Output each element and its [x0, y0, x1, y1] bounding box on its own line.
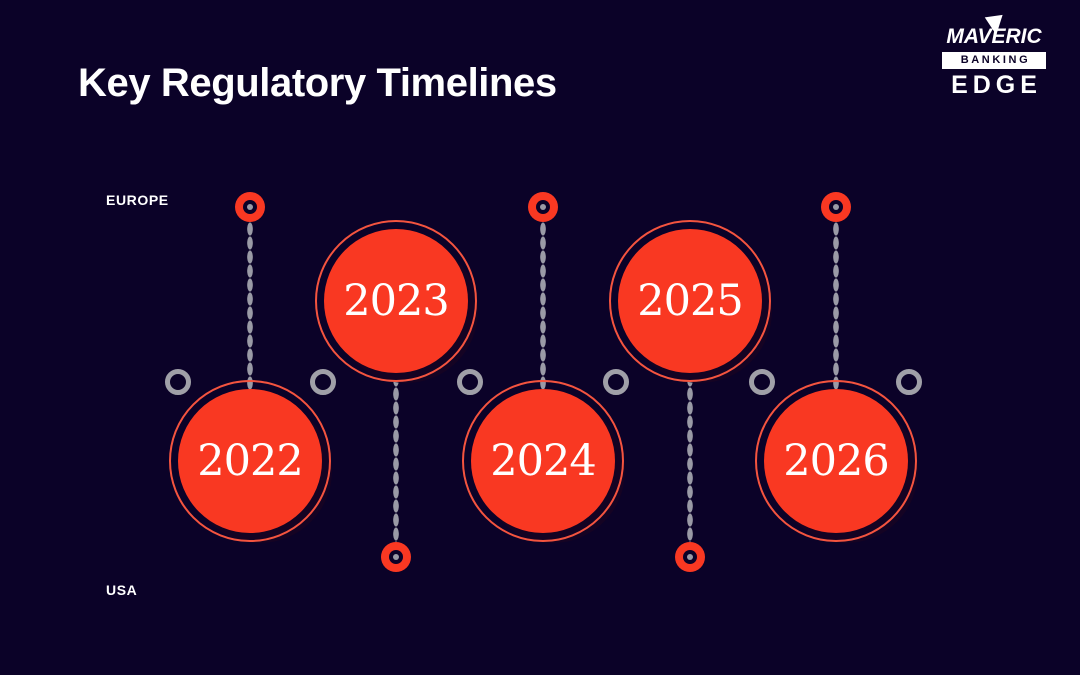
endpoint-marker-2026	[821, 192, 851, 222]
endpoint-center-dot	[687, 554, 693, 560]
endpoint-center-dot	[833, 204, 839, 210]
timeline-infographic: Key Regulatory Timelines MAVERIC BANKING…	[0, 0, 1080, 675]
region-label-europe: EUROPE	[106, 192, 169, 208]
endpoint-inner-ring	[829, 200, 843, 214]
endpoint-inner-ring	[243, 200, 257, 214]
logo-banking-text: BANKING	[942, 52, 1046, 69]
connector-2025	[687, 373, 693, 542]
page-title: Key Regulatory Timelines	[78, 61, 557, 105]
year-node-outline-ring	[169, 380, 331, 542]
endpoint-marker-2023	[381, 542, 411, 572]
year-node-2026[interactable]: 2026	[764, 389, 908, 533]
year-node-outline-ring	[462, 380, 624, 542]
connector-2023	[393, 373, 399, 542]
endpoint-center-dot	[247, 204, 253, 210]
endpoint-inner-ring	[536, 200, 550, 214]
endpoint-inner-ring	[389, 550, 403, 564]
year-node-2022[interactable]: 2022	[178, 389, 322, 533]
logo-edge-text: EDGE	[942, 72, 1046, 99]
year-node-outline-ring	[755, 380, 917, 542]
maveric-banking-edge-logo: MAVERIC BANKING EDGE	[942, 26, 1046, 99]
triangle-arrow-icon	[985, 15, 1005, 36]
logo-maveric-wordmark: MAVERIC	[942, 26, 1046, 49]
endpoint-center-dot	[393, 554, 399, 560]
year-node-2025[interactable]: 2025	[618, 229, 762, 373]
endpoint-inner-ring	[683, 550, 697, 564]
connector-2022	[247, 222, 253, 389]
year-node-outline-ring	[315, 220, 477, 382]
endpoint-marker-2025	[675, 542, 705, 572]
region-label-usa: USA	[106, 582, 137, 598]
endpoint-marker-2024	[528, 192, 558, 222]
year-node-2024[interactable]: 2024	[471, 389, 615, 533]
connector-2026	[833, 222, 839, 389]
connector-2024	[540, 222, 546, 389]
year-node-2023[interactable]: 2023	[324, 229, 468, 373]
endpoint-marker-2022	[235, 192, 265, 222]
year-node-outline-ring	[609, 220, 771, 382]
endpoint-center-dot	[540, 204, 546, 210]
